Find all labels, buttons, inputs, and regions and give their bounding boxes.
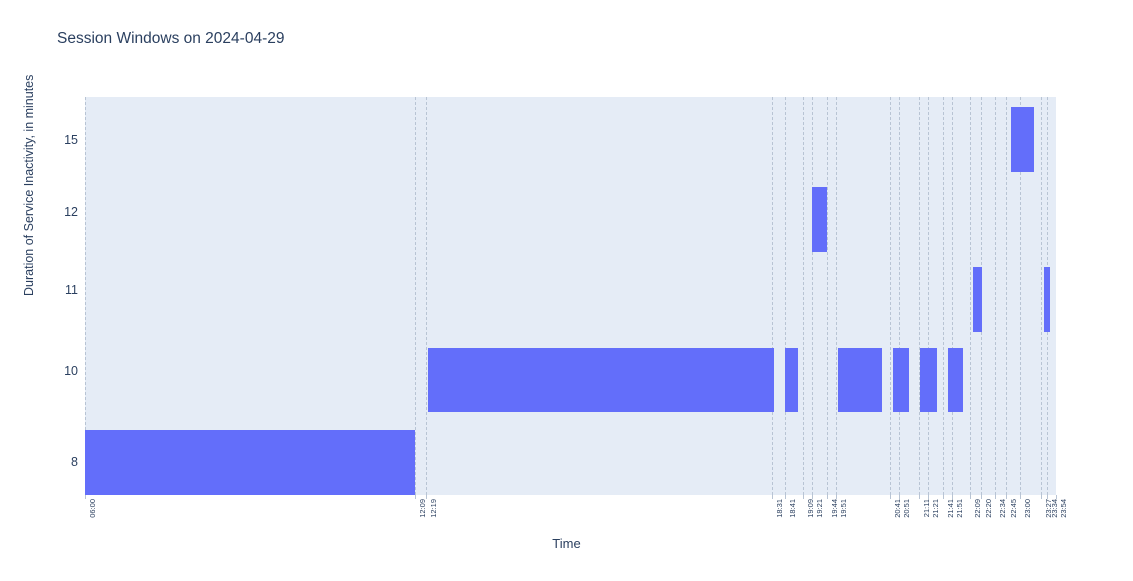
grid-line <box>415 97 416 495</box>
plotly-figure: Session Windows on 2024-04-29 Duration o… <box>0 0 1133 581</box>
x-tick-mark <box>995 495 996 499</box>
grid-line <box>928 97 929 495</box>
x-tick-mark <box>1041 495 1042 499</box>
x-tick-mark <box>970 495 971 499</box>
grid-line <box>772 97 773 495</box>
x-axis-title: Time <box>0 536 1133 551</box>
x-tick-label: 22:09 <box>973 499 982 518</box>
grid-line <box>827 97 828 495</box>
bar[interactable] <box>1044 267 1050 332</box>
y-tick-label: 8 <box>18 455 78 469</box>
bar[interactable] <box>948 348 963 412</box>
grid-line <box>919 97 920 495</box>
x-tick-mark <box>1020 495 1021 499</box>
x-tick-mark <box>890 495 891 499</box>
grid-line <box>803 97 804 495</box>
bar[interactable] <box>838 348 882 412</box>
grid-line <box>1006 97 1007 495</box>
x-tick-label: 23:00 <box>1023 499 1032 518</box>
bar[interactable] <box>893 348 909 412</box>
grid-line <box>943 97 944 495</box>
y-tick-label: 12 <box>18 205 78 219</box>
x-tick-label: 12:19 <box>429 499 438 518</box>
x-tick-mark <box>836 495 837 499</box>
chart-title: Session Windows on 2024-04-29 <box>57 30 284 48</box>
x-tick-label: 20:41 <box>893 499 902 518</box>
x-tick-mark <box>827 495 828 499</box>
x-tick-mark <box>426 495 427 499</box>
x-tick-mark <box>943 495 944 499</box>
grid-line <box>836 97 837 495</box>
x-tick-mark <box>415 495 416 499</box>
y-tick-label: 15 <box>18 133 78 147</box>
x-tick-label: 23:34 <box>1050 499 1059 518</box>
x-tick-mark <box>85 495 86 499</box>
bar[interactable] <box>920 348 937 412</box>
x-tick-label: 21:41 <box>946 499 955 518</box>
x-tick-mark <box>981 495 982 499</box>
x-tick-mark <box>785 495 786 499</box>
x-tick-mark <box>928 495 929 499</box>
x-tick-label: 19:21 <box>815 499 824 518</box>
grid-line <box>890 97 891 495</box>
bar[interactable] <box>428 348 774 412</box>
x-tick-mark <box>1056 495 1057 499</box>
x-tick-label: 22:34 <box>998 499 1007 518</box>
x-tick-mark <box>812 495 813 499</box>
x-tick-label: 20:51 <box>902 499 911 518</box>
x-tick-label: 12:09 <box>418 499 427 518</box>
grid-line <box>995 97 996 495</box>
grid-line <box>899 97 900 495</box>
x-tick-mark <box>1047 495 1048 499</box>
x-tick-mark <box>1006 495 1007 499</box>
x-tick-mark <box>952 495 953 499</box>
bar[interactable] <box>85 430 415 495</box>
bar[interactable] <box>785 348 798 412</box>
x-tick-label: 21:21 <box>931 499 940 518</box>
grid-line <box>426 97 427 495</box>
x-tick-label: 22:45 <box>1009 499 1018 518</box>
x-tick-label: 18:41 <box>788 499 797 518</box>
x-tick-label: 22:20 <box>984 499 993 518</box>
x-axis-tick-labels: 06:0012:0912:1918:3118:4119:0919:2119:44… <box>85 499 1056 539</box>
grid-line <box>785 97 786 495</box>
x-tick-mark <box>772 495 773 499</box>
bar[interactable] <box>812 187 827 252</box>
y-tick-label: 10 <box>18 364 78 378</box>
x-tick-label: 19:44 <box>830 499 839 518</box>
x-tick-mark <box>899 495 900 499</box>
grid-line <box>1041 97 1042 495</box>
x-tick-label: 21:51 <box>955 499 964 518</box>
x-tick-label: 18:31 <box>775 499 784 518</box>
y-tick-label: 11 <box>18 283 78 297</box>
x-tick-label: 06:00 <box>88 499 97 518</box>
bar[interactable] <box>1011 107 1034 172</box>
grid-line <box>812 97 813 495</box>
x-tick-mark <box>919 495 920 499</box>
grid-line <box>952 97 953 495</box>
x-tick-mark <box>803 495 804 499</box>
x-tick-label: 23:54 <box>1059 499 1068 518</box>
x-tick-label: 21:11 <box>922 499 931 517</box>
grid-line <box>970 97 971 495</box>
plot-area[interactable] <box>85 97 1056 495</box>
bar[interactable] <box>973 267 982 332</box>
y-axis-tick-labels: 151211108 <box>14 97 78 495</box>
x-tick-label: 19:09 <box>806 499 815 518</box>
x-tick-label: 19:51 <box>839 499 848 518</box>
